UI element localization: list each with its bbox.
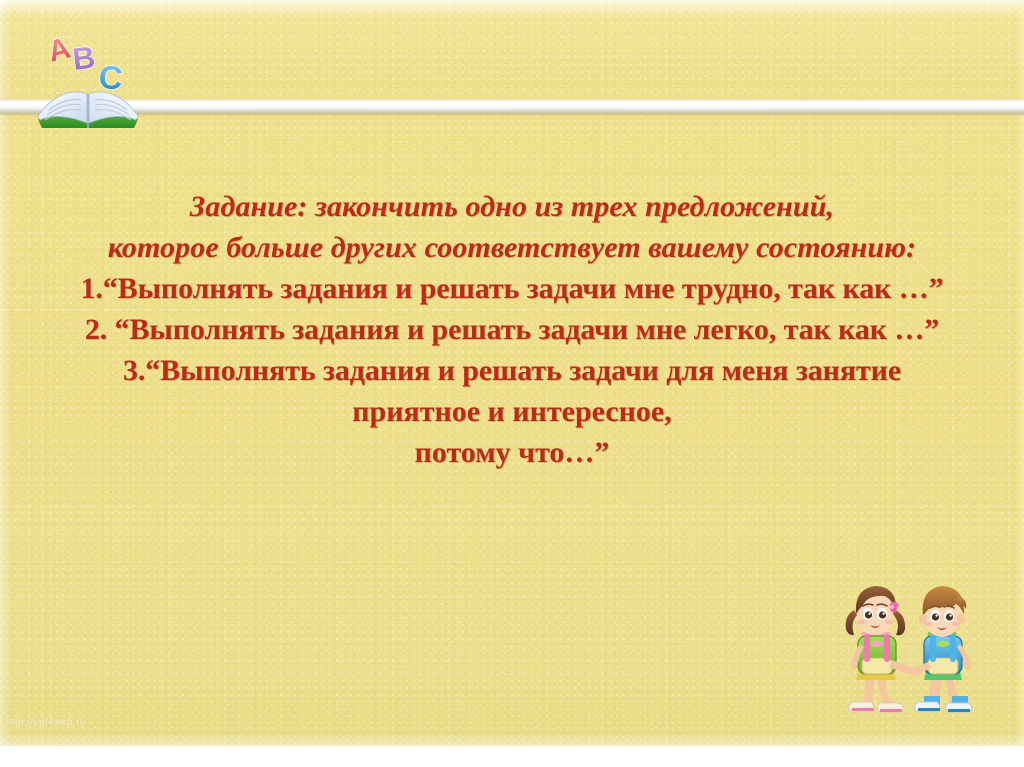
two-schoolchildren-icon — [828, 574, 1006, 726]
page-bottom-whitespace — [0, 746, 1024, 767]
svg-text:B: B — [71, 39, 97, 76]
heading-line-2: которое больше других соответствует ваше… — [0, 227, 1024, 268]
option-item-2: 2. “Выполнять задания и решать задачи мн… — [0, 309, 1024, 350]
bottom-fade-edge — [0, 732, 1024, 746]
svg-text:A: A — [45, 32, 74, 69]
option-item-3-continuation-2: потому что…” — [0, 432, 1024, 473]
heading-line-1: Задание: закончить одно из трех предложе… — [0, 186, 1024, 227]
source-watermark: http://ppt4web.ru — [6, 717, 86, 728]
svg-text:C: C — [98, 58, 124, 97]
slide-canvas: A B C Задание: закончить одно из трех пр… — [0, 0, 1024, 746]
abc-open-book-icon: A B C — [22, 24, 154, 140]
option-item-3: 3.“Выполнять задания и решать задачи для… — [0, 350, 1024, 391]
top-bevel-highlight — [0, 0, 1024, 16]
option-item-1: 1.“Выполнять задания и решать задачи мне… — [0, 268, 1024, 309]
task-text-block: Задание: закончить одно из трех предложе… — [0, 186, 1024, 473]
option-item-3-continuation-1: приятное и интересное, — [0, 391, 1024, 432]
